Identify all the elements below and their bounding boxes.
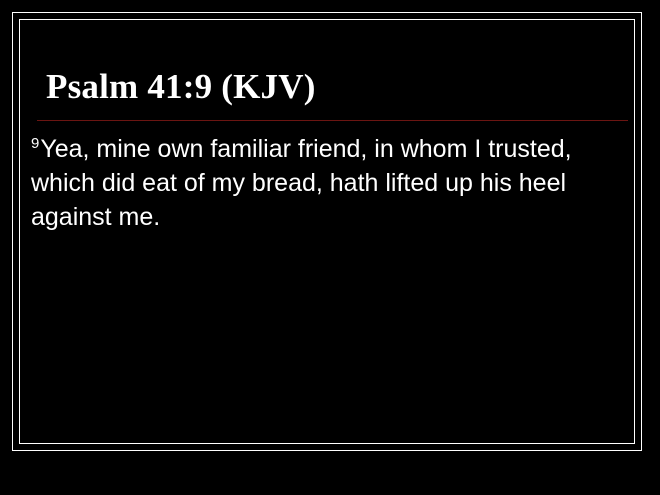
title-divider-rule <box>37 120 628 121</box>
verse-number: 9 <box>31 135 40 152</box>
slide-title: Psalm 41:9 (KJV) <box>46 67 316 107</box>
scripture-text: Yea, mine own familiar friend, in whom I… <box>31 135 572 231</box>
presentation-slide: Psalm 41:9 (KJV) 9Yea, mine own familiar… <box>0 0 660 495</box>
scripture-text-block: 9Yea, mine own familiar friend, in whom … <box>31 132 625 234</box>
slide-content-area: Psalm 41:9 (KJV) 9Yea, mine own familiar… <box>20 20 634 443</box>
